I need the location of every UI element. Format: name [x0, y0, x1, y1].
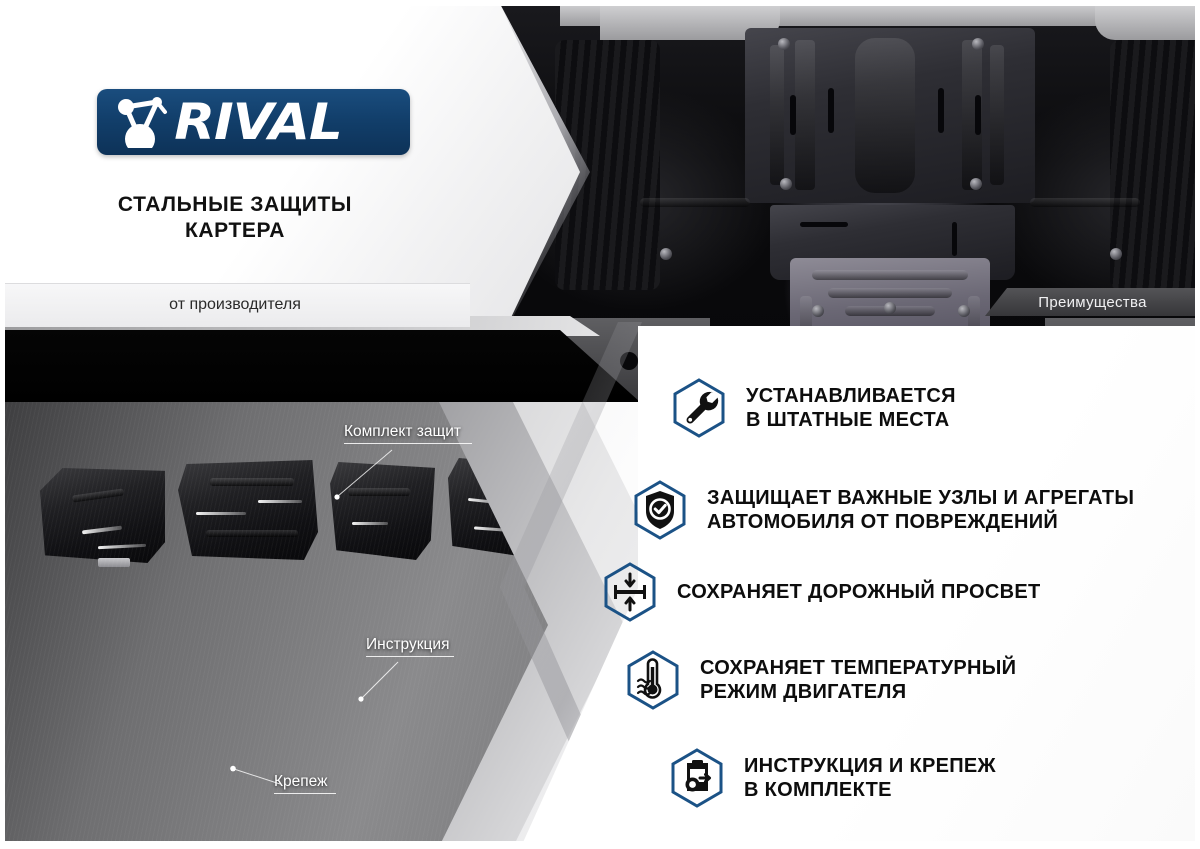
headline-line-1: СТАЛЬНЫЕ ЗАЩИТЫ — [0, 192, 470, 218]
thermometer-icon — [626, 650, 680, 710]
callout-komplekt: Комплект защит — [344, 423, 472, 444]
callout-leader-krepezh — [228, 766, 284, 788]
skid-plate-part — [178, 460, 318, 560]
callout-leader-komplekt — [330, 448, 400, 502]
benefit-item-protection: ЗАЩИЩАЕТ ВАЖНЫЕ УЗЛЫ И АГРЕГАТЫ АВТОМОБИ… — [633, 480, 1134, 540]
frame-edge-bottom — [0, 841, 1200, 849]
wrench-icon — [672, 378, 726, 438]
benefit-item-clearance: СОХРАНЯЕТ ДОРОЖНЫЙ ПРОСВЕТ — [603, 562, 1041, 622]
benefit-label: СОХРАНЯЕТ ТЕМПЕРАТУРНЫЙ РЕЖИМ ДВИГАТЕЛЯ — [700, 656, 1016, 704]
benefit-label: ИНСТРУКЦИЯ И КРЕПЕЖ В КОМПЛЕКТЕ — [744, 754, 996, 802]
benefit-item-installation: УСТАНАВЛИВАЕТСЯ В ШТАТНЫЕ МЕСТА — [672, 378, 956, 438]
callout-label: Комплект защит — [344, 423, 472, 441]
callout-leader-instruktsiya — [356, 660, 404, 702]
benefit-item-temperature: СОХРАНЯЕТ ТЕМПЕРАТУРНЫЙ РЕЖИМ ДВИГАТЕЛЯ — [626, 650, 1016, 710]
benefit-label: УСТАНАВЛИВАЕТСЯ В ШТАТНЫЕ МЕСТА — [746, 384, 956, 432]
molecule-icon — [113, 96, 177, 148]
callout-underline — [274, 793, 336, 794]
advantages-ribbon-label: Преимущества — [1038, 294, 1146, 311]
benefit-label: ЗАЩИЩАЕТ ВАЖНЫЕ УЗЛЫ И АГРЕГАТЫ АВТОМОБИ… — [707, 486, 1134, 534]
tagline: от производителя — [0, 296, 470, 314]
benefit-item-kit-included: ИНСТРУКЦИЯ И КРЕПЕЖ В КОМПЛЕКТЕ — [670, 748, 996, 808]
frame-edge-top — [0, 0, 1200, 6]
callout-instruktsiya: Инструкция — [366, 636, 454, 657]
callout-underline — [344, 443, 472, 444]
rival-logo[interactable]: RIVAL — [97, 89, 410, 155]
callout-underline — [366, 656, 454, 657]
logo-wordmark: RIVAL — [174, 97, 341, 147]
shield-check-icon — [633, 480, 687, 540]
ground-clearance-icon — [603, 562, 657, 622]
headline-line-2: КАРТЕРА — [0, 218, 470, 244]
page-title: СТАЛЬНЫЕ ЗАЩИТЫ КАРТЕРА — [0, 192, 470, 243]
advantages-ribbon: Преимущества — [985, 288, 1200, 316]
manual-hardware-icon — [670, 748, 724, 808]
frame-edge-left — [0, 0, 5, 849]
frame-edge-right — [1195, 0, 1200, 849]
callout-label: Инструкция — [366, 636, 454, 654]
benefit-label: СОХРАНЯЕТ ДОРОЖНЫЙ ПРОСВЕТ — [677, 580, 1041, 604]
poster-root: RIVAL СТАЛЬНЫЕ ЗАЩИТЫ КАРТЕРА от произво… — [0, 0, 1200, 849]
